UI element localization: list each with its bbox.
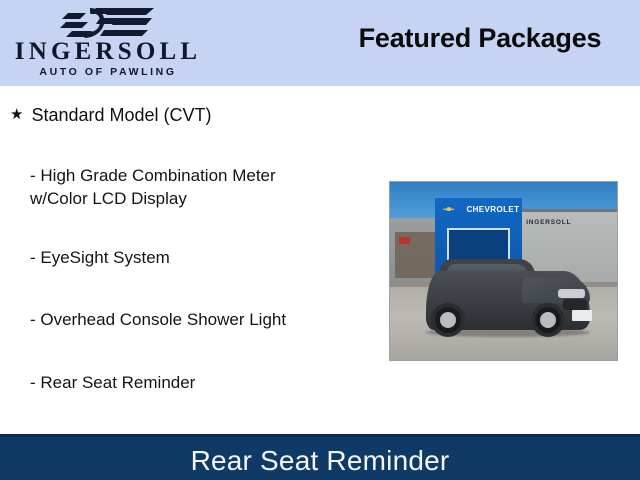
header-band: INGERSOLL AUTO OF PAWLING Featured Packa… — [0, 0, 640, 86]
brand-wordmark: INGERSOLL — [8, 37, 208, 66]
photo-car-headlight — [558, 289, 585, 298]
photo-dealer-tower-sign: CHEVROLET — [442, 205, 519, 214]
photo-car-grille — [563, 299, 588, 310]
photo-car-wheel-rear — [431, 303, 465, 337]
feature-item: - Overhead Console Shower Light — [30, 308, 286, 331]
feature-item: - EyeSight System — [30, 246, 170, 269]
brand-subwordmark: AUTO OF PAWLING — [8, 66, 208, 78]
main-bullet-label: Standard Model (CVT) — [31, 103, 211, 127]
brand-logo: INGERSOLL AUTO OF PAWLING — [8, 4, 208, 84]
footer-banner: Rear Seat Reminder — [0, 434, 640, 480]
page-title: Featured Packages — [330, 22, 630, 54]
star-bullet-icon: ★ — [10, 103, 23, 127]
photo-building-sign: INGERSOLL — [526, 219, 612, 226]
main-bullet-row: ★ Standard Model (CVT) — [10, 103, 212, 127]
content-area: ★ Standard Model (CVT) - High Grade Comb… — [0, 86, 640, 434]
footer-title: Rear Seat Reminder — [0, 444, 640, 478]
feature-item: - High Grade Combination Meter w/Color L… — [30, 164, 276, 210]
photo-red-sign — [399, 237, 410, 244]
feature-item: - Rear Seat Reminder — [30, 371, 195, 394]
vehicle-photo: INGERSOLL CHEVROLET — [389, 181, 618, 361]
ingersoll-wing-emblem-icon — [60, 6, 156, 40]
photo-car-plate — [572, 310, 592, 321]
photo-car-wheel-front — [531, 303, 565, 337]
